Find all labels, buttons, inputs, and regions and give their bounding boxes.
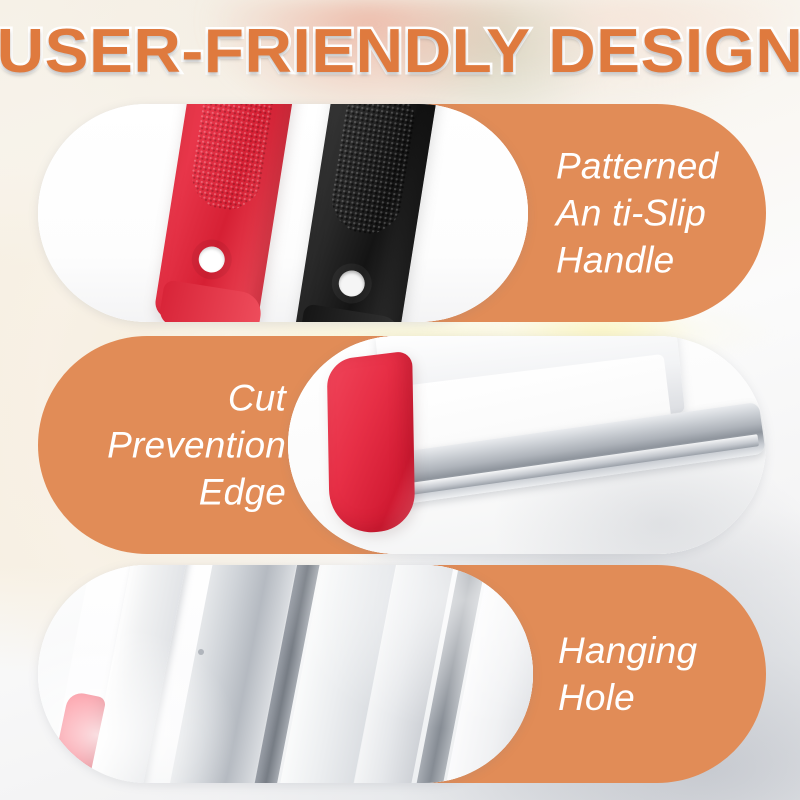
black-handle-grip-texture <box>327 104 420 239</box>
feature-label-hanging-hole: Hanging Hole <box>558 627 697 721</box>
photo-shadow-wash <box>288 336 766 554</box>
photo-highlight-wash <box>38 565 533 783</box>
black-handle-foot <box>298 303 404 322</box>
feature-photo-cut-prevention-edge <box>288 336 766 554</box>
red-handle-foot <box>158 279 264 322</box>
feature-photo-patterned-anti-slip-handle <box>38 104 528 322</box>
feature-label-cut-prevention-edge: Cut Prevention Edge <box>46 375 286 516</box>
feature-row-cut-prevention-edge: Cut Prevention Edge <box>38 336 766 554</box>
black-handle-hanging-hole <box>337 269 367 299</box>
red-handle-grip-texture <box>187 104 280 215</box>
product-feature-poster: USER-FRIENDLY DESIGN Patterned An ti-Sli… <box>0 0 800 800</box>
feature-row-hanging-hole: Hanging Hole <box>38 565 766 783</box>
feature-row-patterned-anti-slip-handle: Patterned An ti-Slip Handle <box>38 104 766 322</box>
red-handle-hanging-hole <box>197 245 227 275</box>
feature-photo-hanging-hole <box>38 565 533 783</box>
page-title: USER-FRIENDLY DESIGN <box>0 16 800 88</box>
feature-label-patterned-anti-slip-handle: Patterned An ti-Slip Handle <box>556 143 718 284</box>
